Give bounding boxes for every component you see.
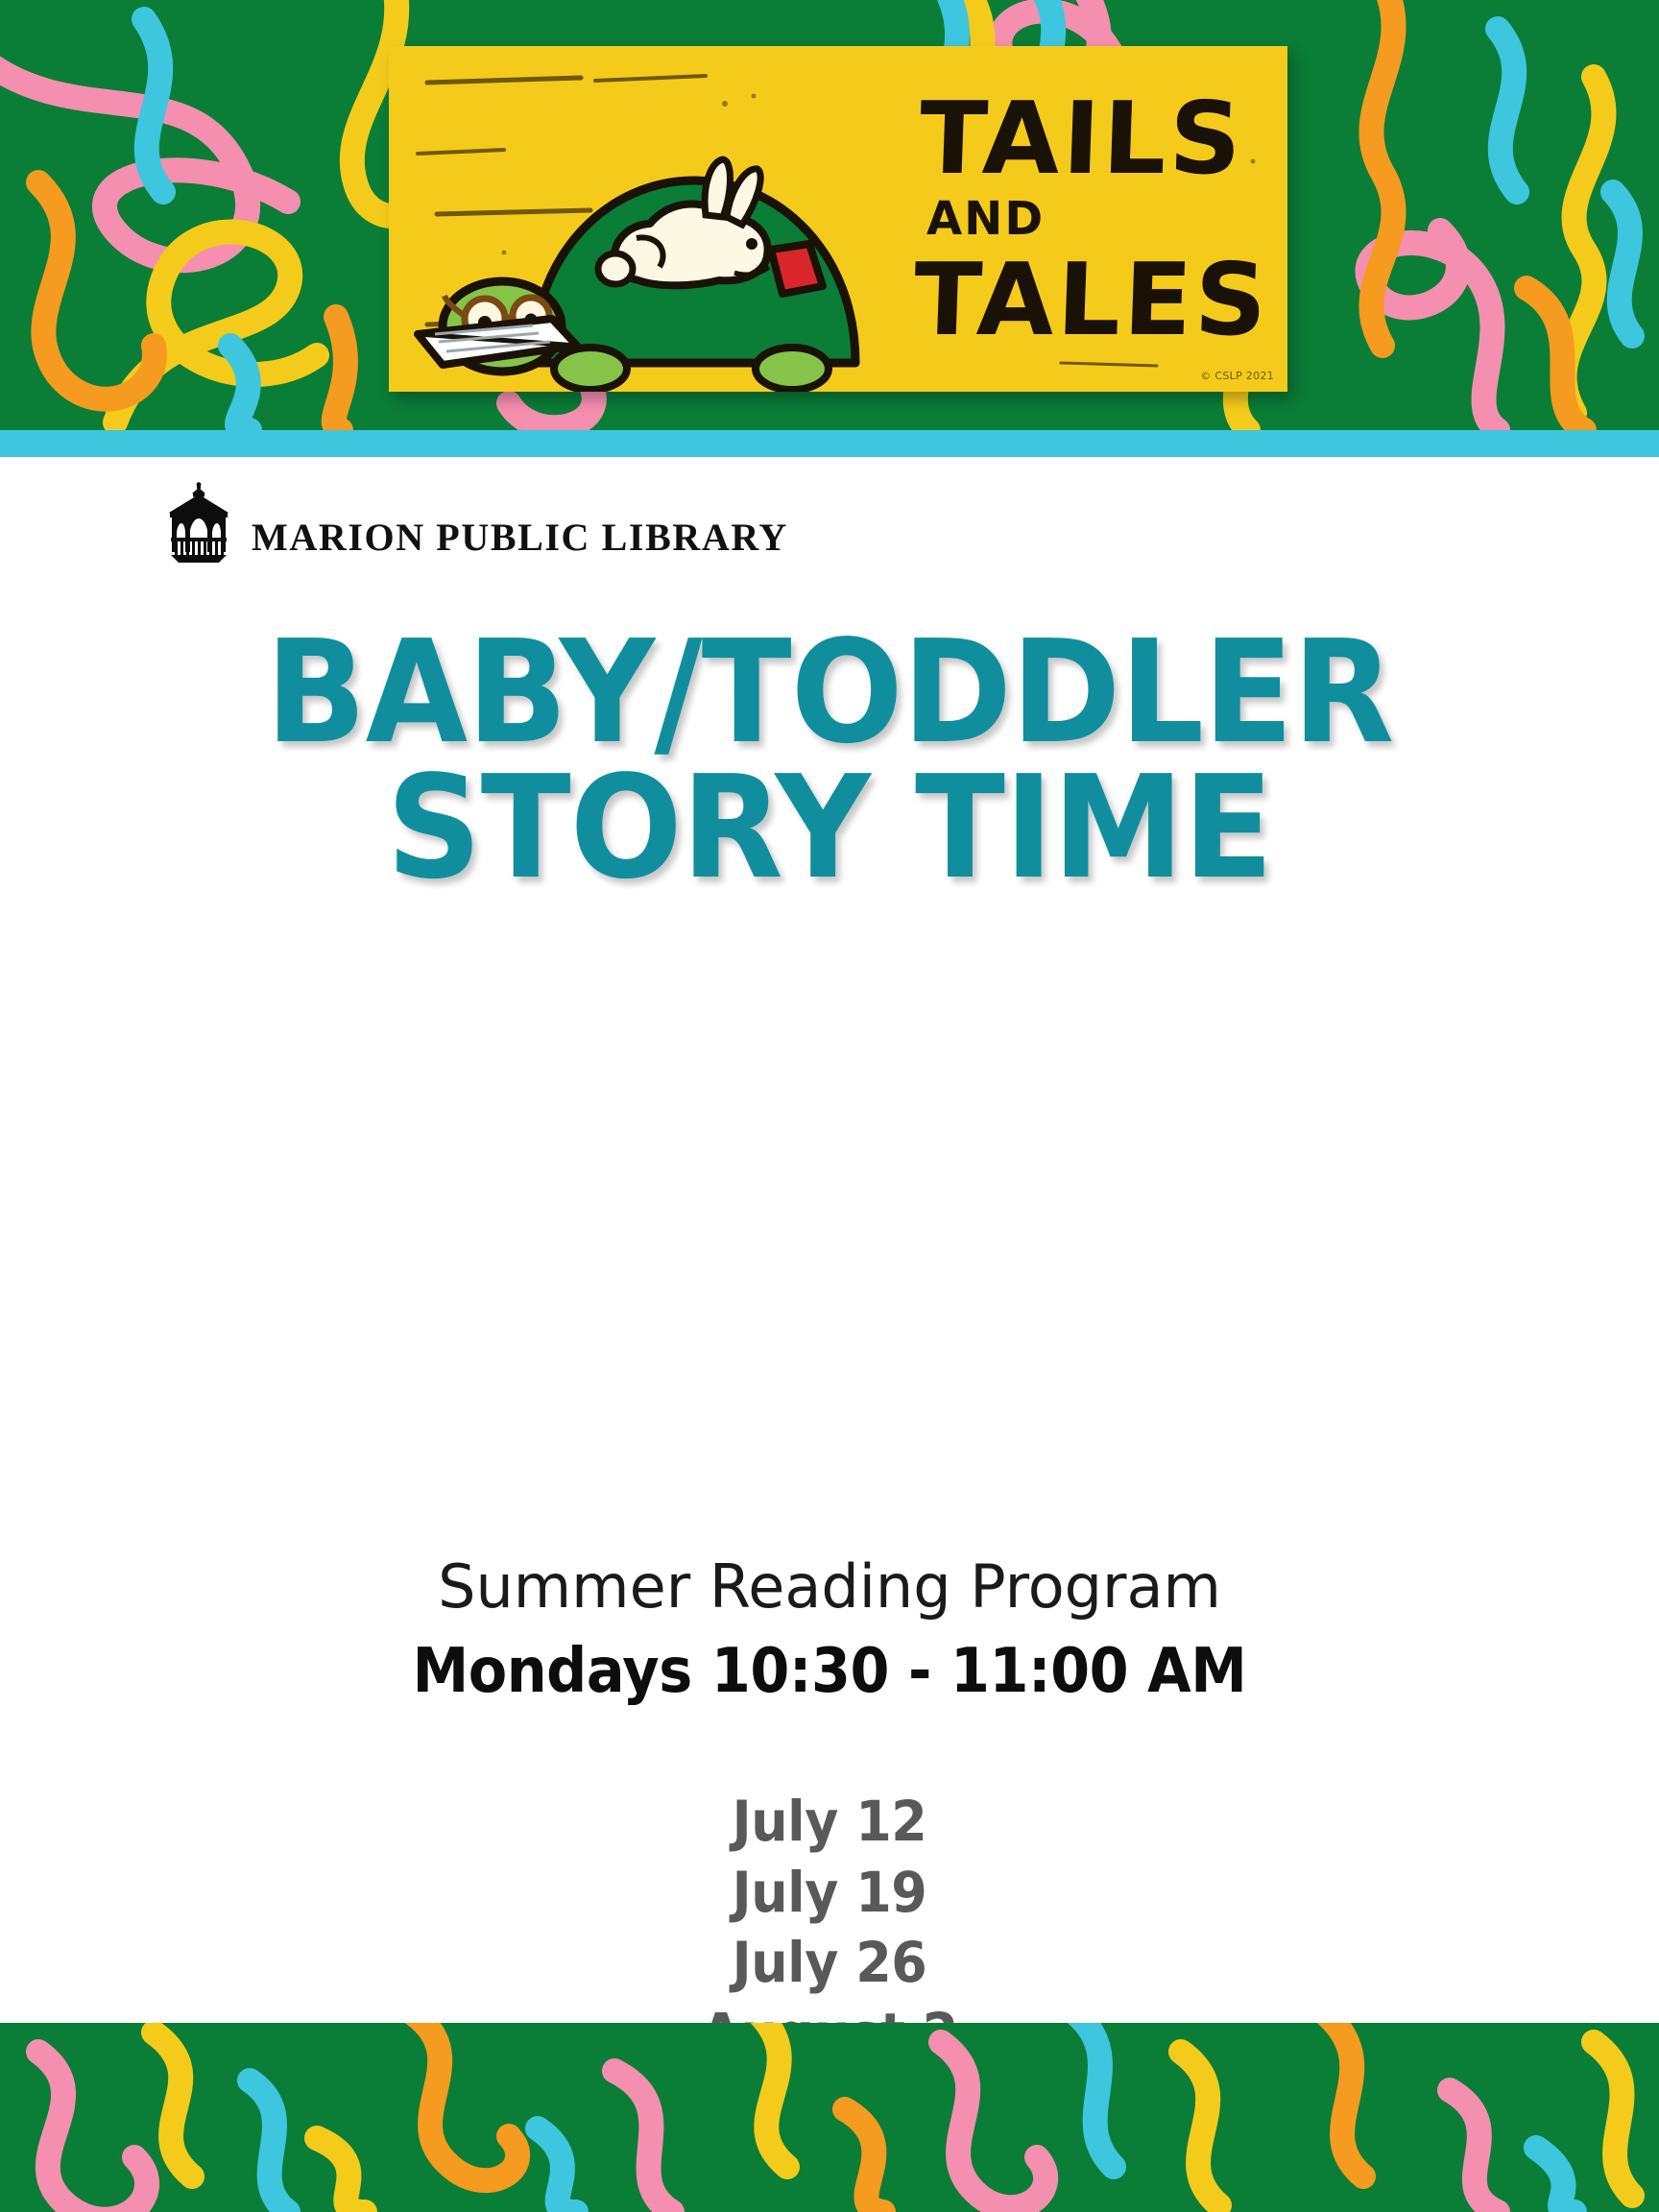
page-title: BABY/TODDLER STORY TIME [0,625,1659,895]
svg-text:TAILS: TAILS [918,80,1246,197]
program-subtitle: Summer Reading Program [0,1551,1659,1622]
svg-text:TALES: TALES [912,241,1272,358]
poster: TAILS AND TALES © CSLP 2021 [0,0,1659,2212]
summer-reading-program-sign: TAILS AND TALES © CSLP 2021 [389,46,1287,392]
top-cyan-rule [0,430,1659,457]
svg-text:AND: AND [926,192,1045,246]
schedule-time: Mondays 10:30 - 11:00 AM [66,1636,1593,1707]
title-line-2: STORY TIME [58,760,1600,896]
date-item: July 19 [58,1858,1600,1929]
date-item: July 12 [58,1787,1600,1858]
confetti-squiggles-bottom [0,2023,1659,2212]
library-logo: MARION PUBLIC LIBRARY [163,482,788,565]
top-decorative-band: TAILS AND TALES © CSLP 2021 [0,0,1659,430]
tails-and-tales-artwork: TAILS AND TALES [389,46,1287,392]
date-item: July 26 [58,1928,1600,1999]
bottom-decorative-band [0,2023,1659,2212]
library-name: MARION PUBLIC LIBRARY [252,518,788,565]
content-area: MARION PUBLIC LIBRARY BABY/TODDLER STORY… [0,457,1659,2023]
sign-copyright-credit: © CSLP 2021 [1200,370,1274,382]
gazebo-icon [163,482,234,565]
title-line-1: BABY/TODDLER [58,625,1600,760]
